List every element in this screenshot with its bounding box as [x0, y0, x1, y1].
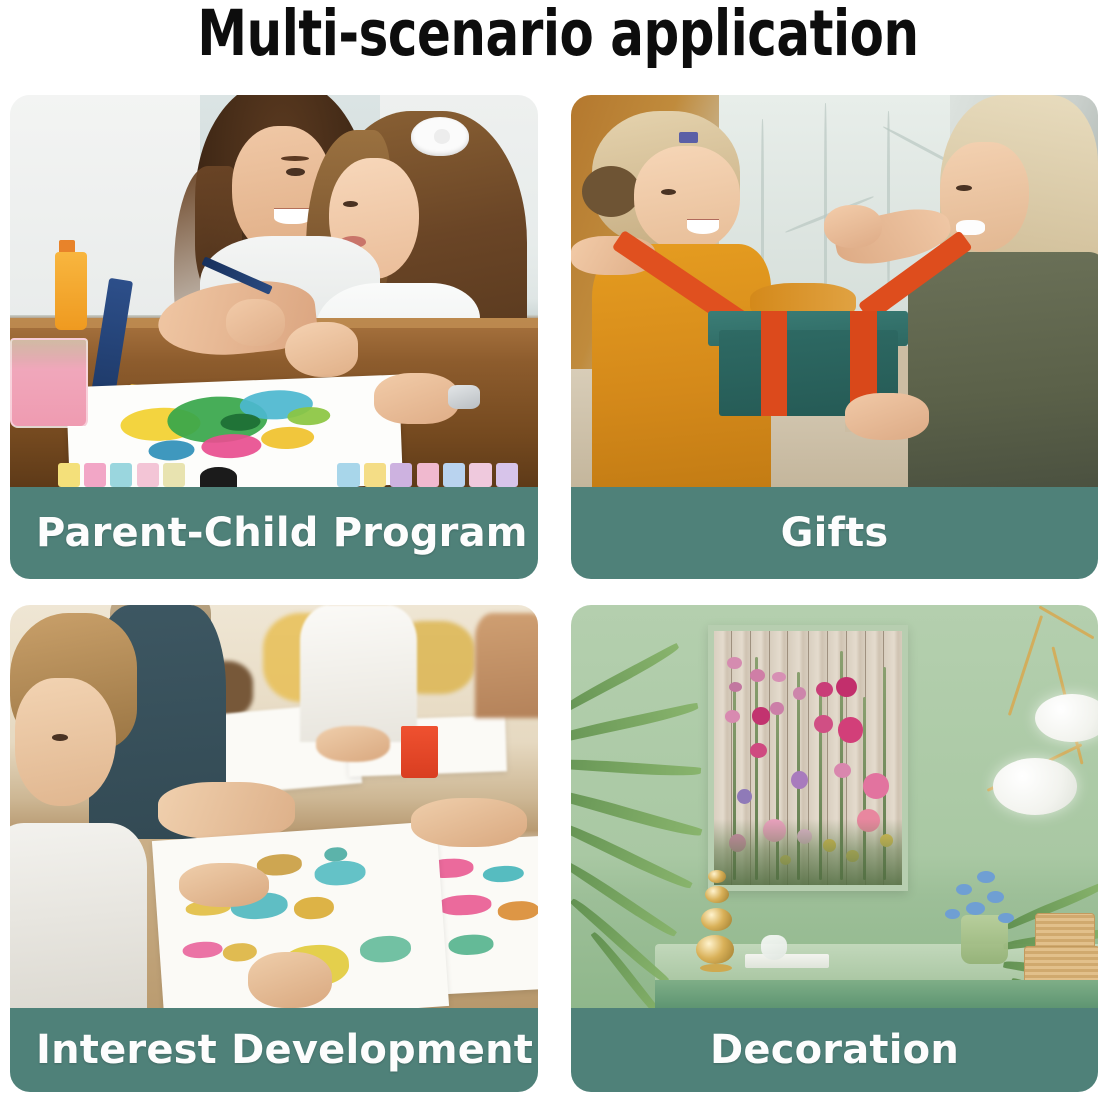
caption-decoration: Decoration [571, 1008, 1098, 1092]
caption-parent-child-program: Parent-Child Program [10, 487, 538, 579]
photo-gifts [571, 95, 1098, 487]
photo-decoration [571, 605, 1098, 1008]
scenario-card-decoration[interactable]: Decoration [571, 605, 1098, 1092]
scenario-grid: Parent-Child Program [0, 0, 1116, 1102]
scenario-card-interest-development[interactable]: Interest Development [10, 605, 538, 1092]
caption-interest-development: Interest Development [10, 1008, 538, 1092]
promo-banner: Multi-scenario application [0, 0, 1116, 1102]
glass-ornament [761, 935, 787, 959]
caption-gifts: Gifts [571, 487, 1098, 579]
picture-frame-icon [708, 625, 908, 891]
photo-parent-child-program [10, 95, 538, 487]
scenario-card-gifts[interactable]: Gifts [571, 95, 1098, 579]
scenario-card-parent-child-program[interactable]: Parent-Child Program [10, 95, 538, 579]
photo-interest-development [10, 605, 538, 1008]
